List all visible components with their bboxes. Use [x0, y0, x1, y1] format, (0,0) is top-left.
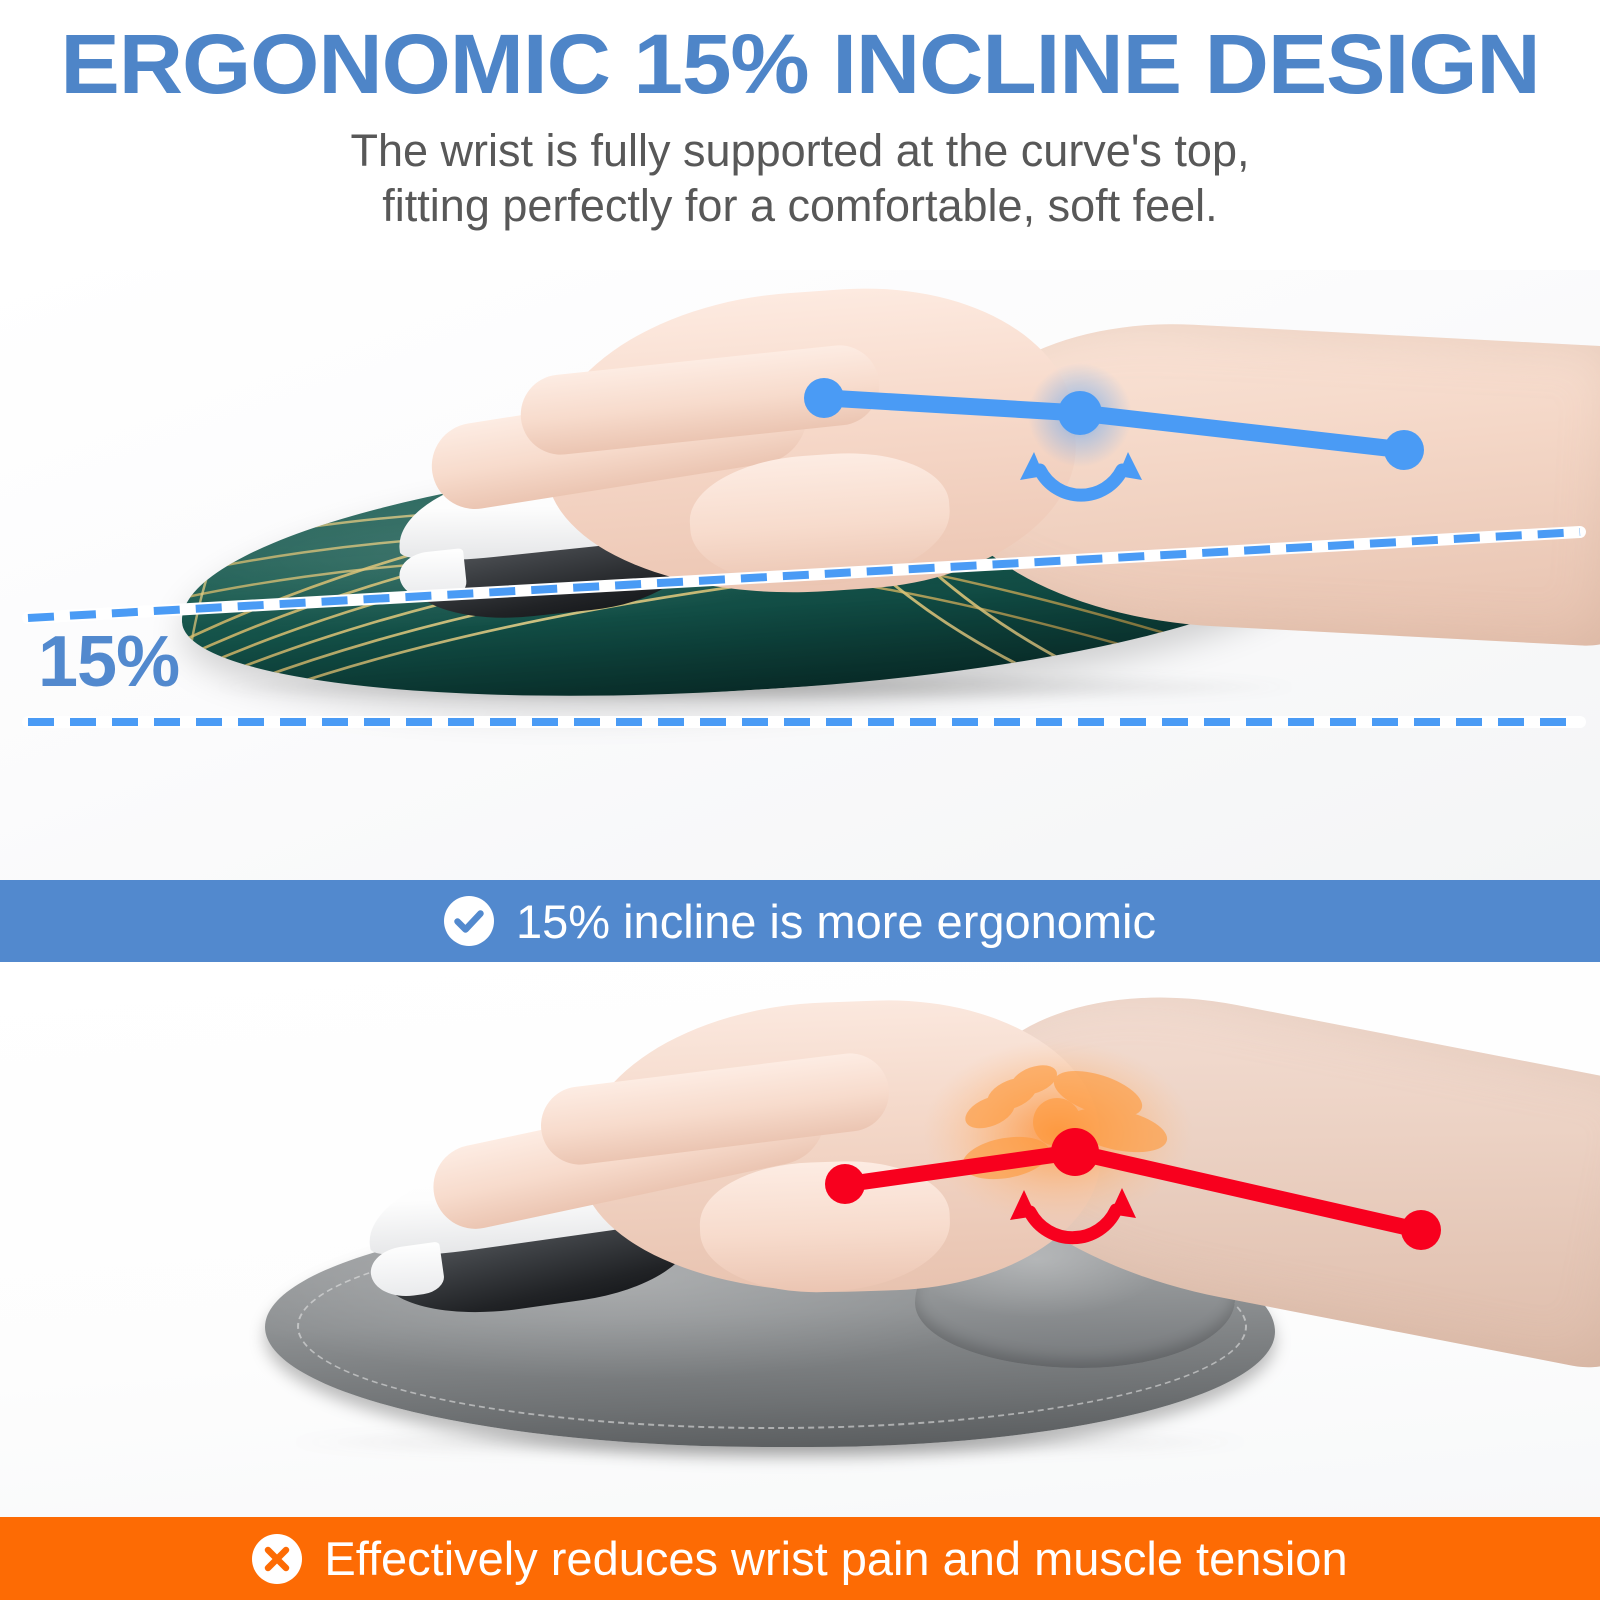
- banner-pain-reduction: Effectively reduces wrist pain and muscl…: [0, 1517, 1600, 1600]
- check-circle-icon: [444, 896, 494, 946]
- incline-angle-label: 15%: [38, 626, 179, 698]
- banner-bad-label: Effectively reduces wrist pain and muscl…: [324, 1535, 1347, 1582]
- banner-ergonomic-good: 15% incline is more ergonomic: [0, 880, 1600, 962]
- x-circle-icon: [252, 1534, 302, 1584]
- bottom-product-panel: [0, 962, 1600, 1517]
- banner-good-label: 15% incline is more ergonomic: [516, 898, 1156, 945]
- subtitle-line-2: fitting perfectly for a comfortable, sof…: [382, 180, 1217, 231]
- infographic-page: ERGONOMIC 15% INCLINE DESIGN The wrist i…: [0, 0, 1600, 1600]
- top-product-panel: 15%: [0, 270, 1600, 880]
- header: ERGONOMIC 15% INCLINE DESIGN The wrist i…: [0, 0, 1600, 270]
- subtitle-line-1: The wrist is fully supported at the curv…: [351, 125, 1250, 176]
- page-subtitle: The wrist is fully supported at the curv…: [0, 108, 1600, 234]
- page-title: ERGONOMIC 15% INCLINE DESIGN: [0, 0, 1600, 108]
